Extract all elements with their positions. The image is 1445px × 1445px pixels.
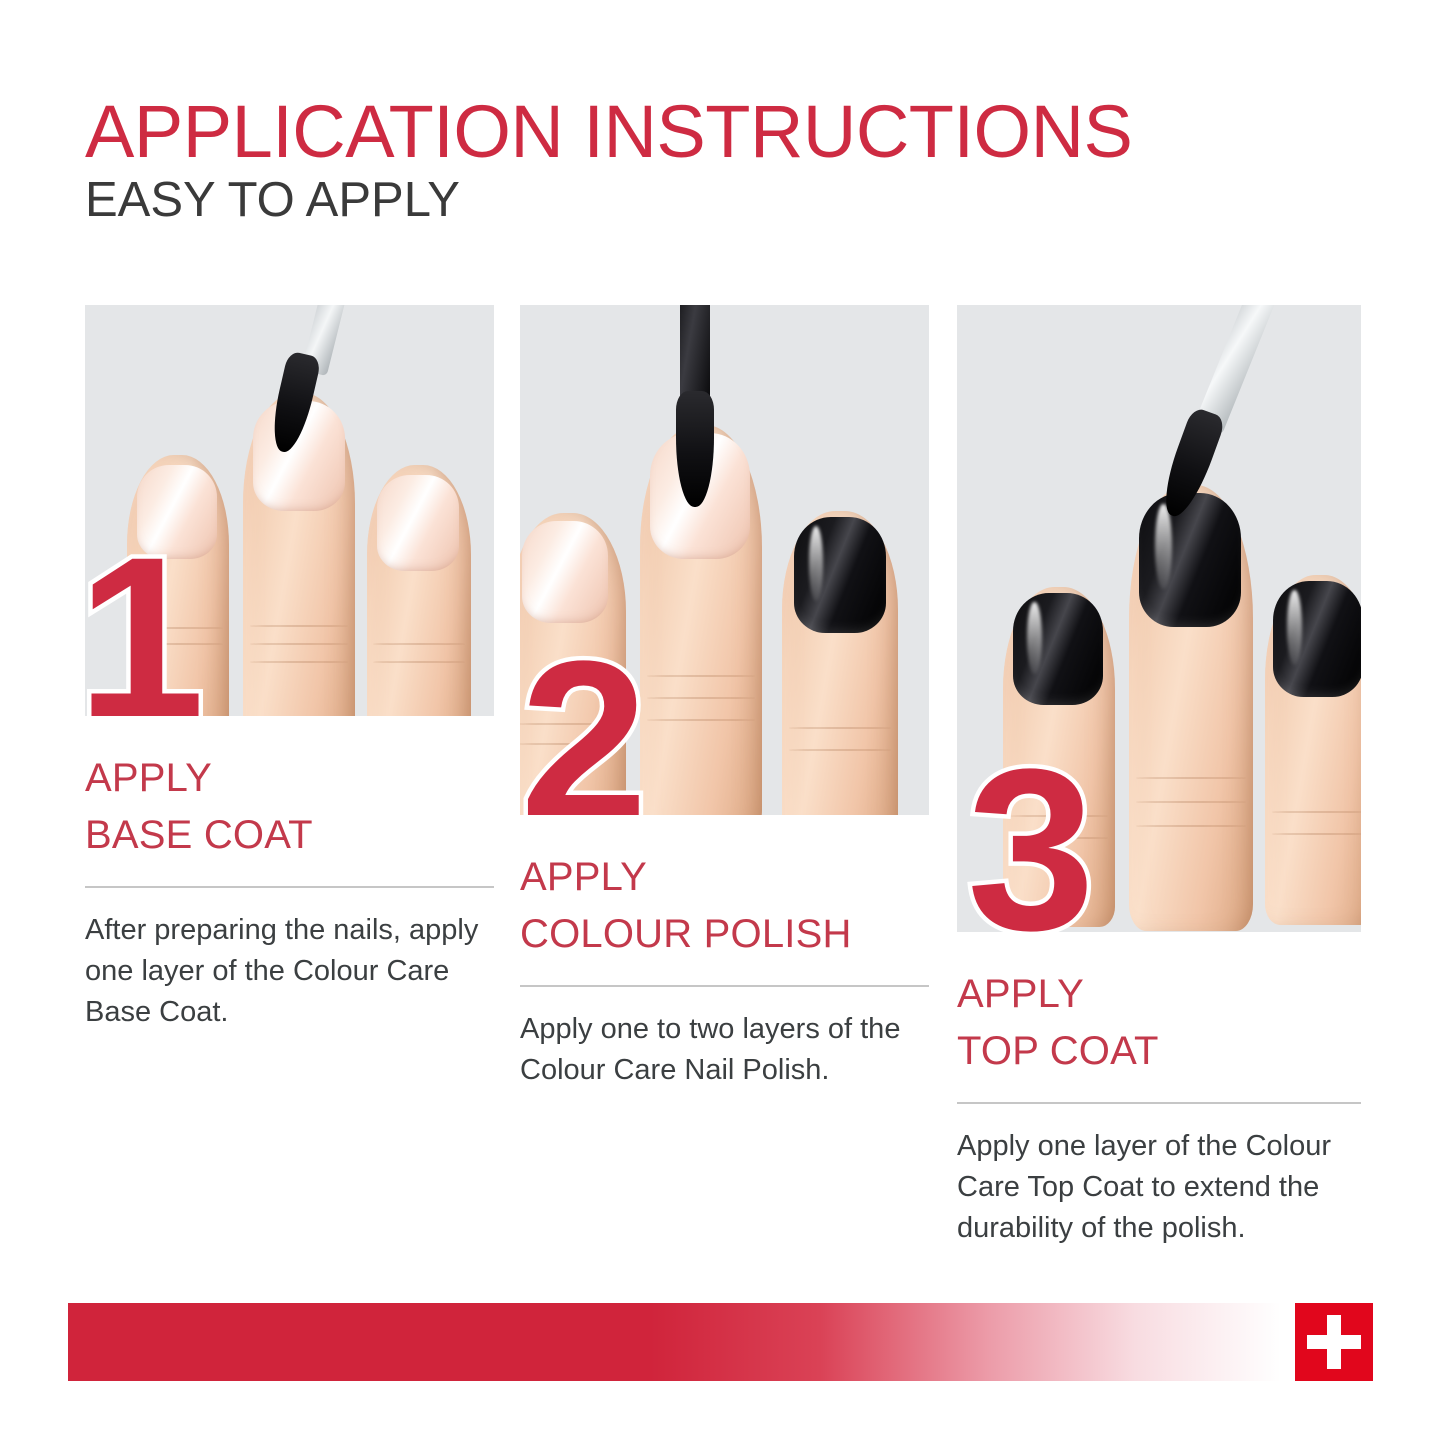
step-3-body-text: Apply one layer of the Colour Care Top C… [957,1126,1361,1250]
brush-handle [680,305,710,403]
step-1: 1 APPLY BASE COAT After preparing the na… [85,305,494,1033]
page-title: APPLICATION INSTRUCTIONS [85,96,1132,167]
footer-gradient-bar [68,1303,1281,1381]
nail-black [1139,493,1241,627]
step-2-photo: 2 [520,305,929,815]
step-2-heading-line-2: COLOUR POLISH [520,906,929,963]
nail-black [794,517,886,633]
page-subtitle: EASY TO APPLY [85,173,1132,228]
step-2-headings: APPLY COLOUR POLISH [520,849,929,963]
nail-bare [522,521,608,623]
nail-black [1273,581,1361,697]
nail-bare [137,465,217,559]
step-3: 3 APPLY TOP COAT Apply one layer of the … [957,305,1361,1249]
step-3-photo: 3 [957,305,1361,932]
step-1-photo: 1 [85,305,494,716]
step-1-heading-line-2: BASE COAT [85,807,494,864]
step-2-divider [520,985,929,987]
step-2-heading-line-1: APPLY [520,849,929,906]
swiss-cross-icon [1295,1303,1373,1381]
hand-illustration-2 [520,305,929,815]
step-1-body-text: After preparing the nails, apply one lay… [85,910,494,1034]
nail-black [1013,593,1103,705]
step-3-heading-line-2: TOP COAT [957,1023,1361,1080]
step-2: 2 APPLY COLOUR POLISH Apply one to two l… [520,305,929,1091]
step-3-divider [957,1102,1361,1104]
step-3-body: Apply one layer of the Colour Care Top C… [957,1126,1361,1250]
application-instructions-page: APPLICATION INSTRUCTIONS EASY TO APPLY [0,0,1445,1445]
step-1-body: After preparing the nails, apply one lay… [85,910,494,1034]
step-3-heading-line-1: APPLY [957,966,1361,1023]
step-1-heading-line-1: APPLY [85,750,494,807]
swiss-cross-vertical [1327,1315,1341,1368]
hand-illustration-1 [85,305,494,716]
step-2-body-text: Apply one to two layers of the Colour Ca… [520,1009,929,1091]
step-2-body: Apply one to two layers of the Colour Ca… [520,1009,929,1091]
hand-illustration-3 [957,305,1361,932]
step-3-headings: APPLY TOP COAT [957,966,1361,1080]
page-header: APPLICATION INSTRUCTIONS EASY TO APPLY [85,96,1132,228]
nail-bare [377,475,459,571]
step-1-headings: APPLY BASE COAT [85,750,494,864]
step-1-divider [85,886,494,888]
